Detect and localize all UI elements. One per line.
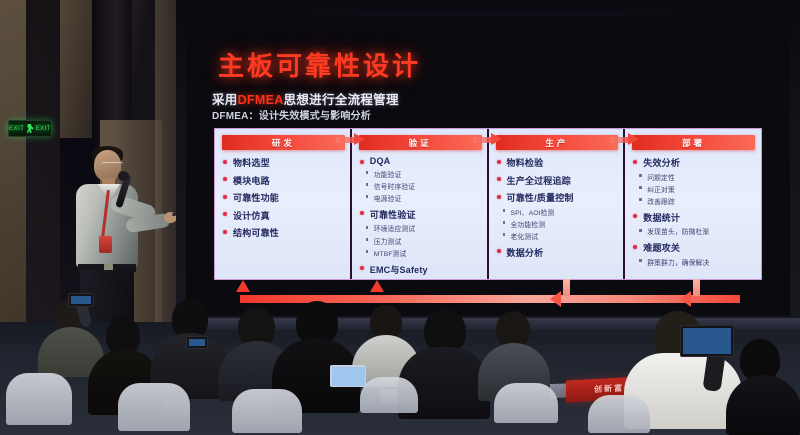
process-column-header-label: 生产 xyxy=(545,137,568,149)
loop-up-arrow xyxy=(236,280,250,292)
exit-sign-label: EXIT xyxy=(9,126,24,132)
process-item: DQA xyxy=(359,156,484,166)
process-column-header: 验证 xyxy=(359,135,482,150)
process-item-list: 失效分析问题定性纠正对策改善跟踪数据统计发现苗头，防微杜渐难题攻关群策群力，确保… xyxy=(632,156,757,267)
process-subitem: 发现苗头，防微杜渐 xyxy=(638,226,757,236)
process-subitem-list: SPI、AOI检测全功能检测老化测试 xyxy=(502,207,621,241)
process-column-separator xyxy=(623,129,625,279)
audience-head xyxy=(496,311,530,347)
badge xyxy=(99,236,112,253)
glasses-icon xyxy=(102,162,123,168)
process-item: 设计仿真 xyxy=(222,209,347,222)
wall-panel xyxy=(0,0,26,330)
slide-subtitle-secondary: DFMEA：设计失效模式与影响分析 xyxy=(212,107,371,122)
process-column-separator xyxy=(487,129,489,279)
process-flow: 研发物料选型模块电路可靠性功能设计仿真结构可靠性验证DQA功能验证信号时序验证电… xyxy=(214,128,762,280)
exit-sign-label-right: EXIT xyxy=(36,126,51,132)
presentation-slide: 主板可靠性设计 采用DFMEA思想进行全流程管理 DFMEA：设计失效模式与影响… xyxy=(186,16,790,316)
process-subitem: 老化测试 xyxy=(502,231,621,241)
process-item: 可靠性/质量控制 xyxy=(496,191,621,204)
smartphone xyxy=(68,293,94,307)
subtitle-suffix: 思想进行全流程管理 xyxy=(284,93,399,107)
arrow-shaft xyxy=(610,137,630,143)
phone-screen xyxy=(683,328,731,354)
process-column-header-label: 研发 xyxy=(272,137,295,149)
process-column-header-label: 部署 xyxy=(682,137,705,149)
process-subitem: 功能验证 xyxy=(365,169,484,179)
process-item: 数据统计 xyxy=(632,211,757,224)
phone-screen xyxy=(71,296,91,304)
process-item: 结构可靠性 xyxy=(222,226,347,239)
process-item: 物料检验 xyxy=(496,156,621,169)
laptop xyxy=(330,365,366,387)
running-man-icon xyxy=(26,124,33,133)
chair xyxy=(360,377,418,413)
slide-subtitle-primary: 采用DFMEA思想进行全流程管理 xyxy=(212,89,399,108)
microphone-head xyxy=(118,171,129,181)
process-flow-arrow xyxy=(336,133,366,146)
chair xyxy=(6,373,72,425)
arrow-shaft xyxy=(473,137,493,143)
process-subitem-list: 群策群力，确保解决 xyxy=(638,257,757,267)
process-item-list: DQA功能验证信号时序验证电源验证可靠性验证环境适应测试压力测试MTBF测试EM… xyxy=(359,156,484,276)
loop-up-arrow xyxy=(370,280,384,292)
process-subitem: MTBF测试 xyxy=(365,248,484,258)
process-column-header-label: 验证 xyxy=(409,137,432,149)
audience-member xyxy=(726,339,800,435)
chair xyxy=(588,395,650,433)
chair xyxy=(232,389,302,433)
arrow-head xyxy=(628,133,639,145)
arrow-head xyxy=(491,133,502,145)
process-subitem-list: 问题定性纠正对策改善跟踪 xyxy=(638,172,757,206)
process-column-header: 部署 xyxy=(632,135,755,150)
process-subitem: 改善跟踪 xyxy=(638,196,757,206)
phone-screen xyxy=(189,339,205,346)
process-subitem: 电源验证 xyxy=(365,193,484,203)
process-item: 物料选型 xyxy=(222,156,347,169)
process-flow-arrow xyxy=(473,133,503,146)
process-flow-arrow xyxy=(610,133,640,146)
process-subitem-list: 功能验证信号时序验证电源验证 xyxy=(365,169,484,203)
process-subitem: 纠正对策 xyxy=(638,184,757,194)
process-item: 模块电路 xyxy=(222,174,347,187)
process-column-header: 研发 xyxy=(222,135,345,150)
loop-riser xyxy=(563,279,570,296)
process-item: 可靠性功能 xyxy=(222,191,347,204)
chair xyxy=(118,383,190,431)
process-item: 失效分析 xyxy=(632,156,757,169)
arrow-head xyxy=(354,133,365,145)
process-item: 生产全过程追踪 xyxy=(496,174,621,187)
process-subitem: 压力测试 xyxy=(365,236,484,246)
process-item: 难题攻关 xyxy=(632,241,757,254)
chair xyxy=(494,383,558,423)
process-subitem: 群策群力，确保解决 xyxy=(638,257,757,267)
process-subitem-list: 发现苗头，防微杜渐 xyxy=(638,226,757,236)
exit-sign: EXIT EXIT xyxy=(8,120,52,137)
process-subitem: 信号时序验证 xyxy=(365,181,484,191)
process-column-header: 生产 xyxy=(496,135,619,150)
process-column-3: 生产物料检验生产全过程追踪可靠性/质量控制SPI、AOI检测全功能检测老化测试数… xyxy=(489,128,626,280)
process-subitem: 环境适应测试 xyxy=(365,223,484,233)
process-subitem: SPI、AOI检测 xyxy=(502,207,621,217)
process-item-list: 物料选型模块电路可靠性功能设计仿真结构可靠性 xyxy=(222,156,347,239)
slide-title: 主板可靠性设计 xyxy=(218,46,421,83)
process-column-2: 验证DQA功能验证信号时序验证电源验证可靠性验证环境适应测试压力测试MTBF测试… xyxy=(352,128,489,280)
process-item-list: 物料检验生产全过程追踪可靠性/质量控制SPI、AOI检测全功能检测老化测试数据分… xyxy=(496,156,621,259)
process-column-4: 部署失效分析问题定性纠正对策改善跟踪数据统计发现苗头，防微杜渐难题攻关群策群力，… xyxy=(625,128,762,280)
process-subitem: 全功能检测 xyxy=(502,219,621,229)
process-column-separator xyxy=(350,129,352,279)
process-subitem-list: 环境适应测试压力测试MTBF测试 xyxy=(365,223,484,257)
loop-left-arrow xyxy=(550,291,561,307)
subtitle-prefix: 采用 xyxy=(212,93,238,107)
conference-room-scene: EXIT EXIT 主板可靠性设计 采用DFMEA思想进行全流程管理 DFMEA… xyxy=(0,0,800,435)
loop-left-arrow xyxy=(680,291,691,307)
laptop-screen xyxy=(332,367,365,386)
arrow-shaft xyxy=(336,137,356,143)
process-item: 数据分析 xyxy=(496,246,621,259)
smartphone xyxy=(186,336,208,349)
loop-riser xyxy=(693,279,700,296)
audience-body xyxy=(726,375,800,435)
process-column-1: 研发物料选型模块电路可靠性功能设计仿真结构可靠性 xyxy=(214,128,352,280)
process-subitem: 问题定性 xyxy=(638,172,757,182)
process-item: EMC与Safety xyxy=(359,263,484,276)
process-item: 可靠性验证 xyxy=(359,208,484,221)
subtitle-highlight: DFMEA xyxy=(238,93,284,107)
